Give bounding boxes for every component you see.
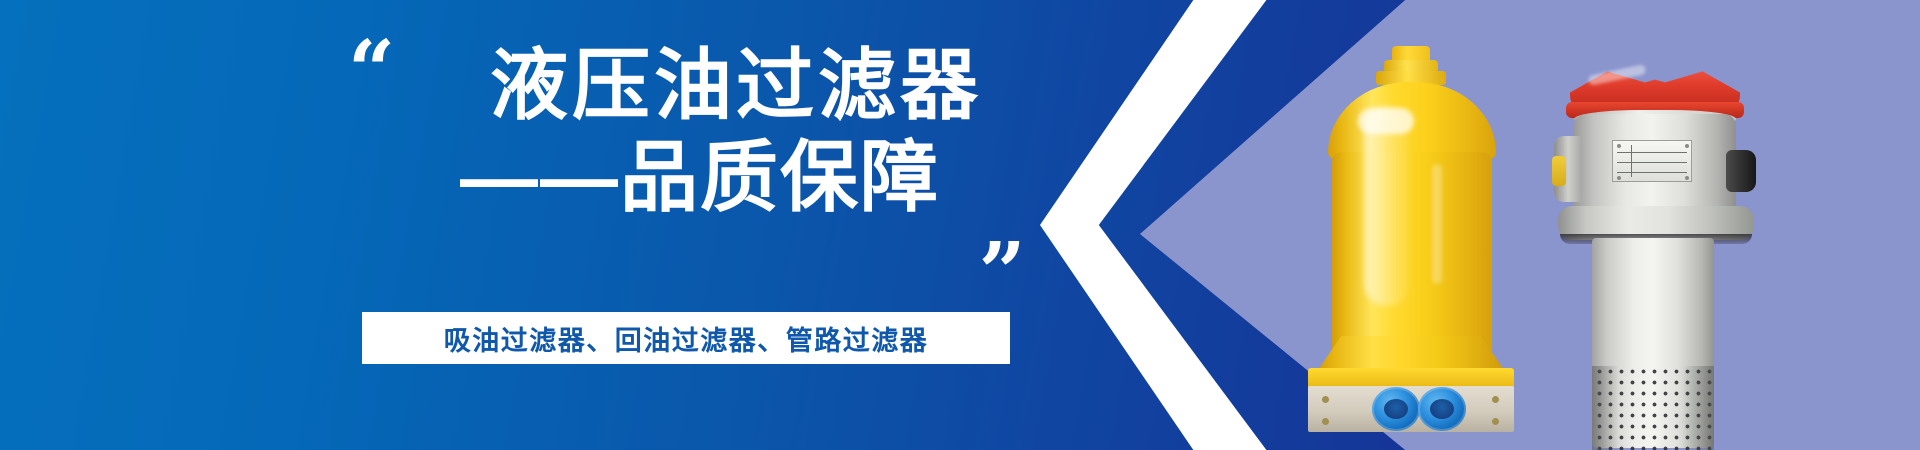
nameplate-rule bbox=[1617, 172, 1687, 173]
return-filter-strainer-shading bbox=[1592, 366, 1714, 450]
return-filter-yellow-plug bbox=[1552, 156, 1566, 186]
headline-line-1: 液压油过滤器 bbox=[0, 46, 982, 124]
filter-edge-flare bbox=[1432, 164, 1442, 284]
nameplate-screw bbox=[1685, 176, 1689, 180]
nameplate-rule bbox=[1617, 152, 1687, 153]
nameplate-rule bbox=[1617, 162, 1687, 163]
page-title: 液压油过滤器 ——品质保障 bbox=[0, 46, 1000, 216]
return-filter-black-knob bbox=[1726, 150, 1756, 192]
subtitle-text: 吸油过滤器、回油过滤器、管路过滤器 bbox=[444, 319, 929, 358]
filter-body bbox=[1332, 152, 1492, 357]
mounting-bolt bbox=[1492, 396, 1499, 403]
nameplate-screw bbox=[1685, 144, 1689, 148]
mounting-bolt bbox=[1322, 418, 1329, 425]
nameplate-screw bbox=[1617, 144, 1621, 148]
mounting-bolt bbox=[1492, 418, 1499, 425]
headline-block: “ 液压油过滤器 ——品质保障 „ 吸油过滤器、回油过滤器、管路过滤器 bbox=[0, 0, 1060, 450]
product-image-suction-filter bbox=[1306, 46, 1516, 446]
filter-port bbox=[1418, 387, 1466, 431]
mounting-bolt bbox=[1322, 396, 1329, 403]
filter-gloss-spot bbox=[1358, 108, 1414, 134]
promo-banner: “ 液压油过滤器 ——品质保障 „ 吸油过滤器、回油过滤器、管路过滤器 bbox=[0, 0, 1920, 450]
filter-port-bore bbox=[1430, 399, 1454, 419]
return-filter-nameplate bbox=[1612, 140, 1692, 182]
filter-port-bore bbox=[1384, 399, 1408, 419]
filter-port bbox=[1372, 387, 1420, 431]
quote-close-icon: „ bbox=[980, 185, 1025, 267]
nameplate-rule bbox=[1631, 145, 1632, 177]
product-image-return-filter bbox=[1530, 48, 1780, 448]
subtitle-badge: 吸油过滤器、回油过滤器、管路过滤器 bbox=[362, 312, 1010, 364]
headline-line-2: ——品质保障 bbox=[0, 138, 982, 216]
nameplate-screw bbox=[1617, 176, 1621, 180]
filter-gloss-highlight bbox=[1364, 106, 1410, 306]
